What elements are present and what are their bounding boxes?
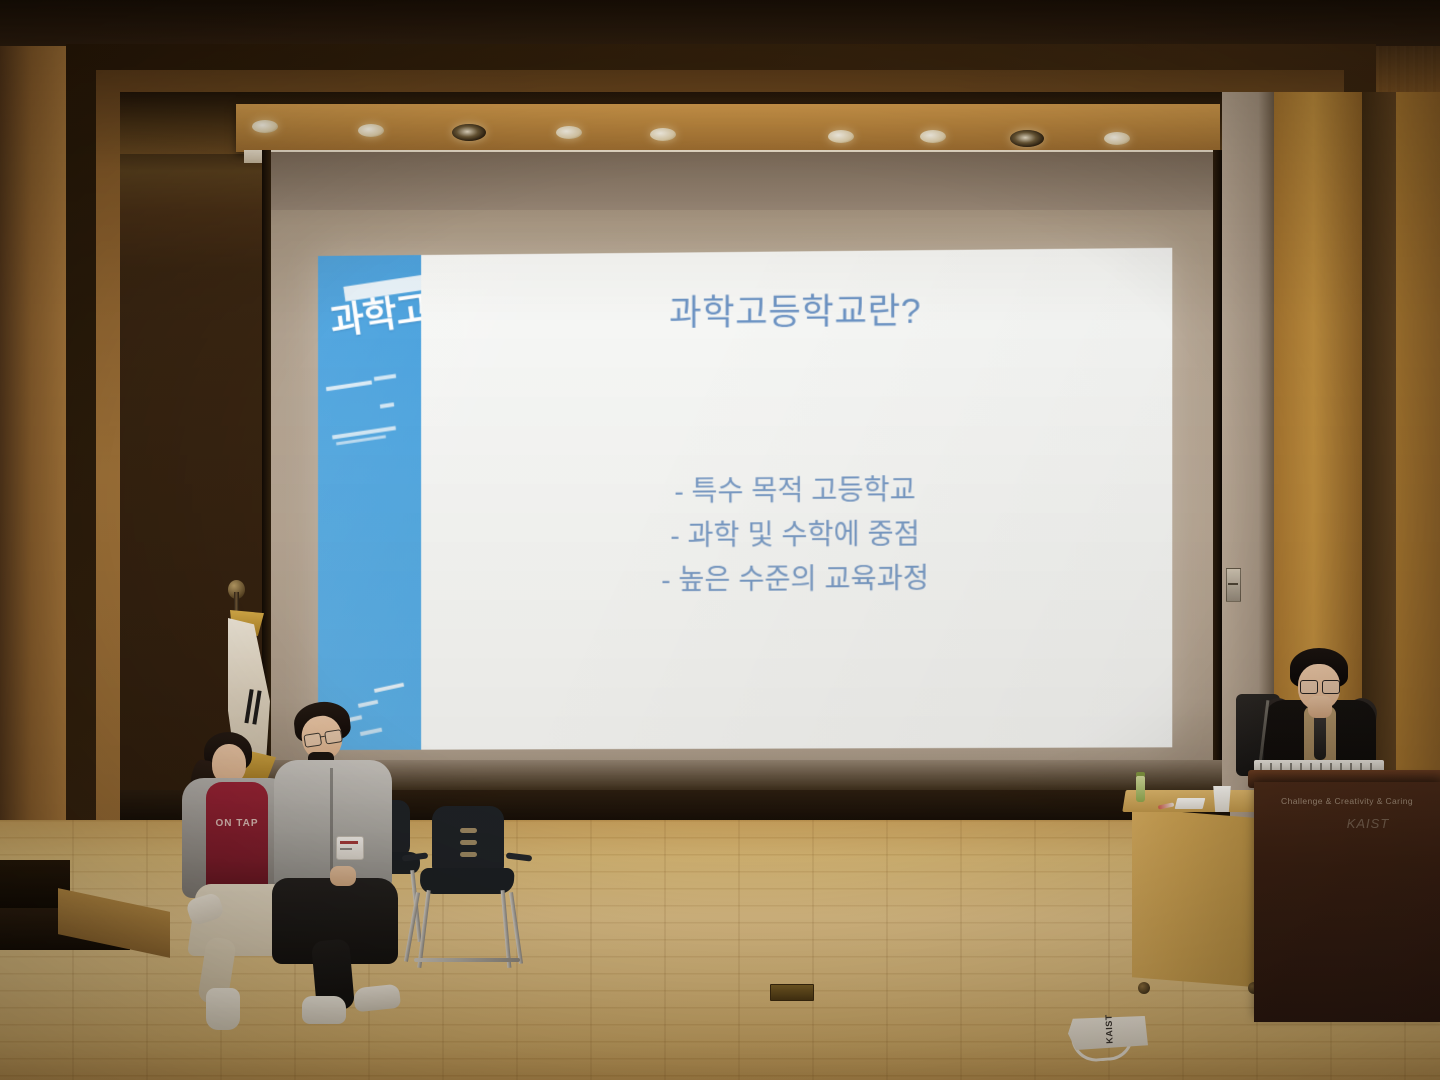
student-boot: [206, 988, 240, 1030]
hoodie-text: ON TAP: [208, 818, 266, 829]
student-hands: [330, 866, 356, 886]
downlight-icon: [1104, 132, 1130, 145]
slide-bullet-item: - 특수 목적 고등학교: [421, 466, 1172, 515]
cart-body: [1132, 808, 1266, 988]
eyeglasses-icon: [1300, 680, 1340, 692]
chair-back-slot: [460, 828, 477, 833]
screen-right-edge: [1213, 150, 1222, 775]
green-bottle[interactable]: [1136, 776, 1145, 802]
downlight-icon: [650, 128, 676, 141]
downlight-icon: [828, 130, 854, 143]
chair-back-slot: [460, 852, 477, 857]
sidebar-accent-dash: [358, 700, 378, 708]
downlight-icon: [358, 124, 384, 137]
name-badge: [336, 836, 364, 860]
podium-kaist-logo: KAIST: [1330, 816, 1406, 831]
chair-back-slot: [460, 840, 477, 845]
sidebar-accent-bar: [326, 380, 372, 391]
slide-bullet-item: - 과학 및 수학에 중점: [421, 511, 1172, 560]
slide-sidebar-logo: 과학고: [328, 291, 421, 341]
presenter-hand: [1308, 696, 1332, 718]
downlight-icon: [920, 130, 946, 143]
sidebar-accent-bar: [374, 374, 396, 381]
tote-logo-text: KAIST: [1103, 1004, 1115, 1054]
student-maroon-hoodie: [206, 782, 268, 890]
hoodie-zipper: [330, 768, 333, 878]
paper-cup[interactable]: [1212, 786, 1232, 812]
wall-fixture-icon: [1226, 568, 1241, 602]
sidebar-accent-dash: [374, 683, 404, 693]
slide-sidebar: 과학고: [318, 255, 421, 750]
screen-top-shadow: [268, 152, 1218, 210]
slide-bullet-item: - 높은 수준의 교육과정: [421, 556, 1172, 605]
student-sneaker: [302, 996, 346, 1024]
chair-floor-rail: [414, 958, 520, 962]
projected-slide: 과학고 과학고등학교란? - 특수 목적 고등학교 - 과학 및 수학에 중점 …: [318, 248, 1172, 750]
downlight-icon: [252, 120, 278, 133]
cart-caster-wheel: [1138, 982, 1150, 994]
slide-bullet-list: - 특수 목적 고등학교 - 과학 및 수학에 중점 - 높은 수준의 교육과정: [421, 466, 1172, 604]
sidebar-accent-bar: [380, 402, 394, 408]
paper-sheet[interactable]: [1175, 798, 1206, 809]
lecture-hall-photo: 과학고 과학고등학교란? - 특수 목적 고등학교 - 과학 및 수학에 중점 …: [0, 0, 1440, 1080]
downlight-icon: [452, 124, 486, 141]
sidebar-accent-dash: [360, 728, 382, 736]
podium-motto-text: Challenge & Creativity & Caring: [1258, 796, 1436, 806]
slide-content-area: 과학고등학교란? - 특수 목적 고등학교 - 과학 및 수학에 중점 - 높은…: [421, 248, 1172, 750]
student-sneaker: [353, 984, 401, 1013]
ceiling-shadow: [0, 0, 1440, 46]
kaist-tote-bag[interactable]: KAIST: [1062, 1010, 1154, 1060]
slide-title: 과학고등학교란?: [421, 280, 1172, 338]
floor-outlet-plate: [770, 984, 814, 1001]
downlight-icon: [556, 126, 582, 139]
downlight-icon: [1010, 130, 1044, 147]
